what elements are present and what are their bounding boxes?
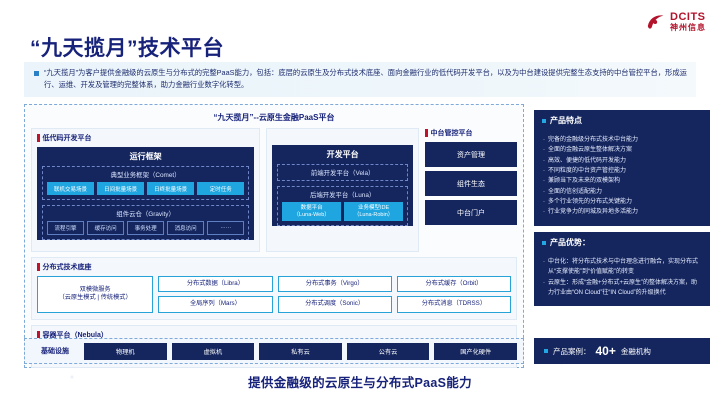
list-item: ·完备的金融级分布式技术中台能力 <box>543 135 701 145</box>
slide-root: DCITS 神州信息 “九天揽月”技术平台 “九天揽月”为客户提供金融级的云原生… <box>0 0 720 405</box>
list-item: ·中台化：将分布式技术与中台理念进行融合，实现分布式从“支撑使能”到“价值赋能”… <box>543 257 701 278</box>
gravity-chip[interactable]: 消息访问 <box>167 221 204 235</box>
feature-text: 多个行业领先的分布式关键能力 <box>548 197 701 207</box>
cases-unit: 金融机构 <box>621 346 651 357</box>
section-bar-icon <box>425 129 428 137</box>
footer-tagline: 提供金融级的云原生与分布式PaaS能力 <box>0 372 720 391</box>
infrastructure-cell[interactable]: 物理机 <box>84 343 167 360</box>
cases-number: 40+ <box>596 344 616 358</box>
gravity-chip[interactable]: 事务处理 <box>127 221 164 235</box>
midplatform-item[interactable]: 组件生态 <box>425 171 517 196</box>
feature-text: 全面的金融云原生整体解决方案 <box>548 145 701 155</box>
comet-chip[interactable]: 定时任务 <box>197 182 244 195</box>
advantages-title-row: 产品优势： <box>534 232 710 253</box>
foundation-cell[interactable]: 分布式缓存（Orbit） <box>397 276 511 292</box>
list-item: ·不同粒度的中台资产管控能力 <box>543 166 701 176</box>
feature-text: 高效、便捷的低代码开发能力 <box>548 156 701 166</box>
dot-icon: · <box>543 166 545 176</box>
dot-icon: · <box>543 207 545 217</box>
gravity-chip[interactable]: …… <box>207 221 244 235</box>
foundation-cell[interactable]: 分布式事务（Virgo） <box>278 276 392 292</box>
foundation-col: 分布式事务（Virgo） 分布式调度（Sonic） <box>278 276 392 313</box>
product-cases-panel: 产品案例： 40+ 金融机构 <box>534 338 710 364</box>
midplatform-item[interactable]: 资产管理 <box>425 142 517 167</box>
frontend-dev-platform[interactable]: 前端开发平台（Vela） <box>277 164 408 181</box>
runtime-framework-box: 运行框架 典型业务框架（Comet） 联机交易场景 日间批量场景 日终批量场景 … <box>37 147 254 240</box>
dual-mode-microservice[interactable]: 双模微服务 （云原生模式 | 传统模式） <box>37 276 153 313</box>
lowcode-platform-card: 低代码开发平台 运行框架 典型业务框架（Comet） 联机交易场景 日间批量场景… <box>31 128 260 252</box>
dcits-swoosh-icon <box>646 13 666 31</box>
bullet-square-icon <box>542 119 546 123</box>
gravity-chip[interactable]: 流程引擎 <box>47 221 84 235</box>
cases-label: 产品案例： <box>553 346 591 357</box>
midplatform-card: 中台管控平台 资产管理 组件生态 中台门户 <box>425 128 517 252</box>
list-item: ·多个行业领先的分布式关键能力 <box>543 197 701 207</box>
foundation-section-label: 分布式技术底座 <box>43 262 92 272</box>
infrastructure-label: 基础设施 <box>31 346 79 356</box>
foundation-col: 分布式缓存（Orbit） 分布式消息（TDRSS） <box>397 276 511 313</box>
comet-chip[interactable]: 日间批量场景 <box>97 182 144 195</box>
dot-icon: · <box>543 187 545 197</box>
features-title-row: 产品特点 <box>534 110 710 131</box>
intro-text: “九天揽月”为客户提供金融级的云原生与分布式的完整PaaS能力，包括：底层的云原… <box>44 67 688 91</box>
intro-banner: “九天揽月”为客户提供金融级的云原生与分布式的完整PaaS能力，包括：底层的云原… <box>24 62 696 97</box>
lowcode-section-label: 低代码开发平台 <box>43 133 92 143</box>
bullet-square-icon <box>542 241 546 245</box>
feature-text: 完备的金融级分布式技术中台能力 <box>548 135 701 145</box>
product-features-panel: 产品特点 ·完备的金融级分布式技术中台能力 ·全面的金融云原生整体解决方案 ·高… <box>534 110 710 226</box>
gravity-chip[interactable]: 缓存访问 <box>87 221 124 235</box>
infrastructure-cell[interactable]: 虚拟机 <box>172 343 255 360</box>
advantages-list: ·中台化：将分布式技术与中台理念进行融合，实现分布式从“支撑使能”到“价值赋能”… <box>543 257 701 298</box>
comet-label: 典型业务框架（Comet） <box>47 170 244 179</box>
list-item: ·行业竞争力的同城及异地多活能力 <box>543 207 701 217</box>
advantages-title: 产品优势： <box>550 237 590 248</box>
page-title: “九天揽月”技术平台 <box>30 32 224 62</box>
dot-icon: · <box>543 156 545 166</box>
comet-chip[interactable]: 联机交易场景 <box>47 182 94 195</box>
midplatform-section-label: 中台管控平台 <box>431 128 473 138</box>
foundation-section-header: 分布式技术底座 <box>37 262 511 272</box>
architecture-diagram: “九天揽月”--云原生金融PaaS平台 低代码开发平台 运行框架 典型业务框架（… <box>24 104 524 368</box>
feature-text: 不同粒度的中台资产管控能力 <box>548 166 701 176</box>
logo-cn-text: 神州信息 <box>670 24 706 32</box>
dot-icon: · <box>543 278 545 299</box>
foundation-grid: 双模微服务 （云原生模式 | 传统模式） 分布式数据（Libra） 全局序列（M… <box>37 276 511 313</box>
list-item: ·兼顾当下及未来的双模架构 <box>543 176 701 186</box>
comet-group: 典型业务框架（Comet） 联机交易场景 日间批量场景 日终批量场景 定时任务 <box>42 166 249 200</box>
dot-icon: · <box>543 197 545 207</box>
foundation-col: 分布式数据（Libra） 全局序列（Mars） <box>158 276 272 313</box>
features-title: 产品特点 <box>550 115 582 126</box>
runtime-framework-title: 运行框架 <box>37 147 254 166</box>
list-item: ·全面的信创适配能力 <box>543 187 701 197</box>
foundation-cell[interactable]: 分布式数据（Libra） <box>158 276 272 292</box>
backend-chip[interactable]: 数据平台 （Luna-Web） <box>282 202 341 221</box>
list-item: ·云原生：形成“金融+分布式+云原生”的整体解决方案，助力行业由“ON Clou… <box>543 278 701 299</box>
section-bar-icon <box>37 263 40 271</box>
backend-dev-label: 后端开发平台（Luna） <box>282 190 403 199</box>
infrastructure-row: 基础设施 物理机 虚拟机 私有云 公有云 国产化硬件 <box>24 338 524 364</box>
backend-chip-row: 数据平台 （Luna-Web） 业务模型IDE （Luna-Robin） <box>282 202 403 221</box>
feature-text: 兼顾当下及未来的双模架构 <box>548 176 701 186</box>
comet-chip[interactable]: 日终批量场景 <box>147 182 194 195</box>
foundation-cell[interactable]: 全局序列（Mars） <box>158 296 272 312</box>
section-bar-icon <box>37 134 40 142</box>
features-list: ·完备的金融级分布式技术中台能力 ·全面的金融云原生整体解决方案 ·高效、便捷的… <box>543 135 701 218</box>
feature-text: 行业竞争力的同城及异地多活能力 <box>548 207 701 217</box>
diagram-title: “九天揽月”--云原生金融PaaS平台 <box>31 112 517 123</box>
bullet-square-icon <box>544 349 548 353</box>
feature-text: 全面的信创适配能力 <box>548 187 701 197</box>
list-item: ·全面的金融云原生整体解决方案 <box>543 145 701 155</box>
dev-platform-box: 开发平台 前端开发平台（Vela） 后端开发平台（Luna） 数据平台 （Lun… <box>272 145 413 226</box>
backend-dev-group: 后端开发平台（Luna） 数据平台 （Luna-Web） 业务模型IDE （Lu… <box>277 186 408 226</box>
dot-icon: · <box>543 176 545 186</box>
backend-chip[interactable]: 业务模型IDE （Luna-Robin） <box>344 202 403 221</box>
midplatform-item[interactable]: 中台门户 <box>425 200 517 225</box>
brand-logo: DCITS 神州信息 <box>646 12 706 32</box>
gravity-group: 组件云仓（Gravity） 流程引擎 缓存访问 事务处理 消息访问 …… <box>42 205 249 240</box>
dot-icon: · <box>543 145 545 155</box>
gravity-label: 组件云仓（Gravity） <box>47 209 244 218</box>
bullet-square-icon <box>34 71 39 76</box>
infrastructure-cell[interactable]: 国产化硬件 <box>434 343 517 360</box>
dot-icon: · <box>543 135 545 145</box>
gravity-chip-row: 流程引擎 缓存访问 事务处理 消息访问 …… <box>47 221 244 235</box>
dev-platform-card: - 开发平台 前端开发平台（Vela） 后端开发平台（Luna） 数据平台 （L… <box>266 128 419 252</box>
product-advantages-panel: 产品优势： ·中台化：将分布式技术与中台理念进行融合，实现分布式从“支撑使能”到… <box>534 232 710 306</box>
lowcode-section-header: 低代码开发平台 <box>37 133 254 143</box>
infrastructure-cell[interactable]: 公有云 <box>347 343 430 360</box>
foundation-card: 分布式技术底座 双模微服务 （云原生模式 | 传统模式） 分布式数据（Libra… <box>31 257 517 320</box>
infrastructure-cell[interactable]: 私有云 <box>259 343 342 360</box>
cases-row: 产品案例： 40+ 金融机构 <box>534 338 710 364</box>
midplatform-section-header: 中台管控平台 <box>425 128 517 138</box>
foundation-cell[interactable]: 分布式消息（TDRSS） <box>397 296 511 312</box>
list-item: ·高效、便捷的低代码开发能力 <box>543 156 701 166</box>
advantage-text: 云原生：形成“金融+分布式+云原生”的整体解决方案，助力行业由“ON Cloud… <box>548 278 701 299</box>
diagram-top-row: 低代码开发平台 运行框架 典型业务框架（Comet） 联机交易场景 日间批量场景… <box>31 128 517 252</box>
logo-en-text: DCITS <box>670 12 706 23</box>
comet-chip-row: 联机交易场景 日间批量场景 日终批量场景 定时任务 <box>47 182 244 195</box>
dot-icon: · <box>543 257 545 278</box>
features-body: ·完备的金融级分布式技术中台能力 ·全面的金融云原生整体解决方案 ·高效、便捷的… <box>534 131 710 226</box>
foundation-cell[interactable]: 分布式调度（Sonic） <box>278 296 392 312</box>
advantages-body: ·中台化：将分布式技术与中台理念进行融合，实现分布式从“支撑使能”到“价值赋能”… <box>534 253 710 306</box>
advantage-text: 中台化：将分布式技术与中台理念进行融合，实现分布式从“支撑使能”到“价值赋能”的… <box>548 257 701 278</box>
dev-platform-title: 开发平台 <box>272 145 413 164</box>
